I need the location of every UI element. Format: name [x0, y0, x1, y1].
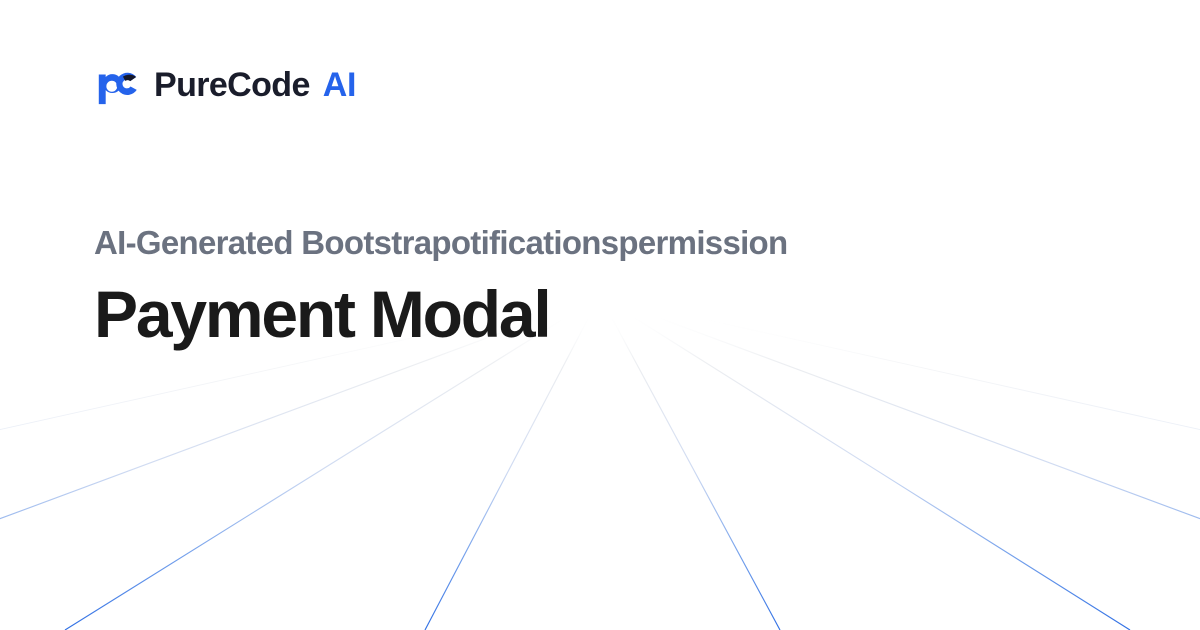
brand-name: PureCode: [154, 68, 310, 102]
hero-eyebrow: AI-Generated Bootstrapotificationspermis…: [94, 224, 787, 263]
brand-wordmark: PureCode AI: [154, 68, 356, 102]
brand-lockup[interactable]: PureCode AI: [94, 62, 356, 108]
brand-suffix: AI: [323, 68, 356, 102]
page-title: Payment Modal: [94, 279, 787, 350]
purecode-pc-monogram-icon: [94, 62, 140, 108]
og-card: PureCode AI AI-Generated Bootstrapotific…: [0, 0, 1200, 630]
hero-section: AI-Generated Bootstrapotificationspermis…: [94, 224, 787, 350]
